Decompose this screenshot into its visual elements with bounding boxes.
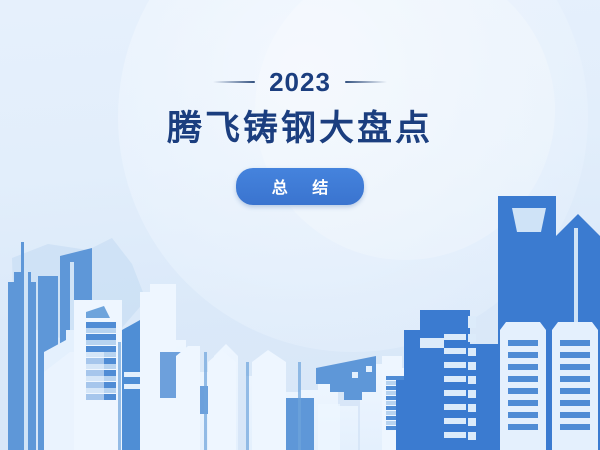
year-label: 2023 [269, 69, 331, 95]
tower-trapezoid-window [512, 208, 546, 232]
window-dots-column [468, 316, 476, 440]
page-title: 腾飞铸钢大盘点 [0, 110, 600, 149]
summary-button[interactable]: 总 结 [236, 168, 364, 205]
title-block: 2023 腾飞铸钢大盘点 总 结 [0, 0, 600, 205]
year-row: 2023 [0, 69, 600, 95]
tower-inset-band [420, 338, 444, 348]
poster-canvas: 2023 腾飞铸钢大盘点 总 结 [0, 0, 600, 450]
year-rule-right-icon [345, 81, 387, 83]
year-rule-left-icon [213, 81, 255, 83]
